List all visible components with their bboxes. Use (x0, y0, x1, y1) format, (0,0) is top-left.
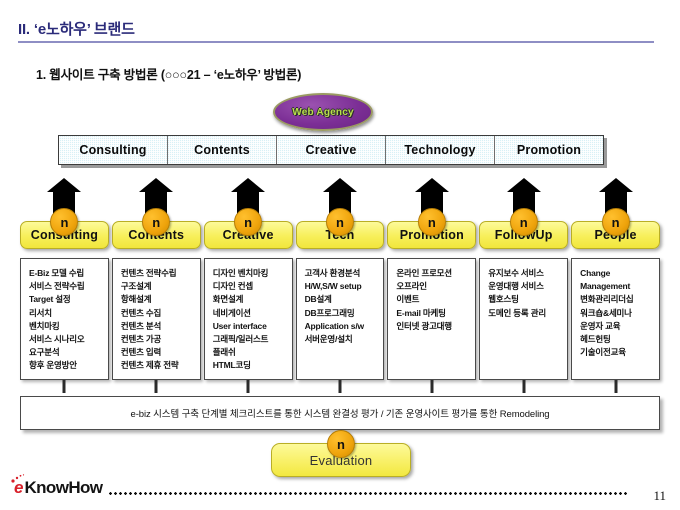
pillar-detail-list: E-Biz 모델 수립서비스 전략수립Target 설정리서치벤치마킹서비스 시… (20, 258, 109, 380)
banner-label: Technology (404, 143, 475, 157)
list-item: 이벤트 (396, 293, 475, 306)
node-marker-icon: n (418, 208, 446, 236)
list-item: 항해설계 (121, 293, 200, 306)
pillar-detail-list: 컨텐츠 전략수립구조설계항해설계컨텐츠 수집컨텐츠 분석컨텐츠 가공컨텐츠 입력… (112, 258, 201, 380)
list-item: 향후 운영방안 (29, 359, 108, 372)
node-marker-label: n (520, 216, 528, 229)
list-item: DB설계 (305, 293, 384, 306)
list-item: 워크숍&세미나 (580, 307, 659, 320)
web-agency-label: Web Agency (292, 107, 353, 118)
node-marker-label: n (428, 216, 436, 229)
node-marker-label: n (612, 216, 620, 229)
list-item: 디자인 컨셉 (213, 280, 292, 293)
connector-stub (614, 380, 617, 393)
logo-name: KnowHow (24, 479, 102, 496)
list-item: 도메인 등록 관리 (488, 307, 567, 320)
list-item: 컨텐츠 전략수립 (121, 267, 200, 280)
list-item: 구조설계 (121, 280, 200, 293)
node-marker-label: n (336, 216, 344, 229)
node-marker-label: n (337, 438, 345, 451)
banner-label: Promotion (517, 143, 581, 157)
web-agency-badge: Web Agency (273, 93, 373, 131)
evaluation-node: n Evaluation (271, 430, 411, 478)
list-item: Application s/w (305, 320, 384, 333)
list-item: User interface (213, 320, 292, 333)
list-item: 유지보수 서비스 (488, 267, 567, 280)
list-item: 컨텐츠 제휴 전략 (121, 359, 200, 372)
connector-stub (63, 380, 66, 393)
list-item: Management (580, 280, 659, 293)
page-number: 11 (653, 488, 666, 504)
page-title: II. ‘e노하우’ 브랜드 (18, 18, 135, 39)
pillar-detail-list: ChangeManagement변화관리리더십워크숍&세미나운영자 교육헤드헌팅… (571, 258, 660, 380)
list-item: 리서치 (29, 307, 108, 320)
connector-stub (430, 380, 433, 393)
list-item: DB프로그래밍 (305, 307, 384, 320)
list-item: HTML코딩 (213, 359, 292, 372)
list-item: 화면설계 (213, 293, 292, 306)
list-item: Target 설정 (29, 293, 108, 306)
pillar-detail-list: 유지보수 서비스운영대행 서비스웹호스팅도메인 등록 관리 (479, 258, 568, 380)
list-item: 인터넷 광고대행 (396, 320, 475, 333)
service-banner: Consulting Contents Creative Technology … (58, 135, 604, 165)
banner-cell-contents[interactable]: Contents (168, 136, 277, 164)
slide-footer: e KnowHow 11 (0, 476, 680, 510)
list-item: 컨텐츠 입력 (121, 346, 200, 359)
list-item: Change (580, 267, 659, 280)
list-item: 운영대행 서비스 (488, 280, 567, 293)
node-marker-icon: n (510, 208, 538, 236)
list-item: 플래쉬 (213, 346, 292, 359)
node-marker-icon: n (326, 208, 354, 236)
list-item: 온라인 프로모션 (396, 267, 475, 280)
list-item: E-mail 마케팅 (396, 307, 475, 320)
banner-label: Contents (194, 143, 250, 157)
node-marker-icon: n (50, 208, 78, 236)
evaluation-bar-text: e-biz 시스템 구축 단계별 체크리스트를 통한 시스템 완결성 평가 / … (131, 406, 550, 420)
list-item: 서비스 전략수립 (29, 280, 108, 293)
banner-cell-technology[interactable]: Technology (386, 136, 495, 164)
list-item: 헤드헌팅 (580, 333, 659, 346)
slide-canvas: II. ‘e노하우’ 브랜드 1. 웹사이트 구축 방법론 (○○○21 – ‘… (0, 0, 680, 510)
connector-stub (247, 380, 250, 393)
pillar-detail-list: 디자인 벤치마킹디자인 컨셉화면설계네비게이션User interface그래픽… (204, 258, 293, 380)
pillar-detail-list: 온라인 프로모션오프라인이벤트E-mail 마케팅인터넷 광고대행 (387, 258, 476, 380)
evaluation-bar: e-biz 시스템 구축 단계별 체크리스트를 통한 시스템 완결성 평가 / … (20, 396, 660, 430)
list-item: 서비스 시나리오 (29, 333, 108, 346)
node-marker-label: n (152, 216, 160, 229)
list-item: 디자인 벤치마킹 (213, 267, 292, 280)
brand-logo: e KnowHow (14, 479, 102, 496)
list-item: 그래픽/일러스트 (213, 333, 292, 346)
list-item: 컨텐츠 분석 (121, 320, 200, 333)
list-item: 요구분석 (29, 346, 108, 359)
node-marker-label: n (60, 216, 68, 229)
list-item: H/W,S/W setup (305, 280, 384, 293)
section-subtitle: 1. 웹사이트 구축 방법론 (○○○21 – ‘e노하우’ 방법론) (36, 64, 301, 83)
list-item: 네비게이션 (213, 307, 292, 320)
list-item: 웹호스팅 (488, 293, 567, 306)
connector-stub (155, 380, 158, 393)
node-marker-icon: n (327, 430, 355, 458)
list-item: E-Biz 모델 수립 (29, 267, 108, 280)
banner-label: Creative (306, 143, 357, 157)
node-marker-label: n (244, 216, 252, 229)
footer-dotted-rule (108, 492, 628, 495)
list-item: 오프라인 (396, 280, 475, 293)
list-item: 기술이전교육 (580, 346, 659, 359)
sparkle-icon (10, 474, 26, 484)
node-marker-icon: n (234, 208, 262, 236)
connector-stub (522, 380, 525, 393)
banner-label: Consulting (79, 143, 146, 157)
list-item: 컨텐츠 수집 (121, 307, 200, 320)
list-item: 운영자 교육 (580, 320, 659, 333)
connector-stub (338, 380, 341, 393)
list-item: 컨텐츠 가공 (121, 333, 200, 346)
pillar-detail-list: 고객사 환경분석H/W,S/W setupDB설계DB프로그래밍Applicat… (296, 258, 385, 380)
list-item: 벤치마킹 (29, 320, 108, 333)
title-divider (18, 41, 654, 43)
list-item: 서버운영/설치 (305, 333, 384, 346)
banner-cell-consulting[interactable]: Consulting (59, 136, 168, 164)
list-item: 고객사 환경분석 (305, 267, 384, 280)
node-marker-icon: n (142, 208, 170, 236)
banner-cell-creative[interactable]: Creative (277, 136, 386, 164)
banner-cell-promotion[interactable]: Promotion (495, 136, 603, 164)
list-item: 변화관리리더십 (580, 293, 659, 306)
node-marker-icon: n (602, 208, 630, 236)
